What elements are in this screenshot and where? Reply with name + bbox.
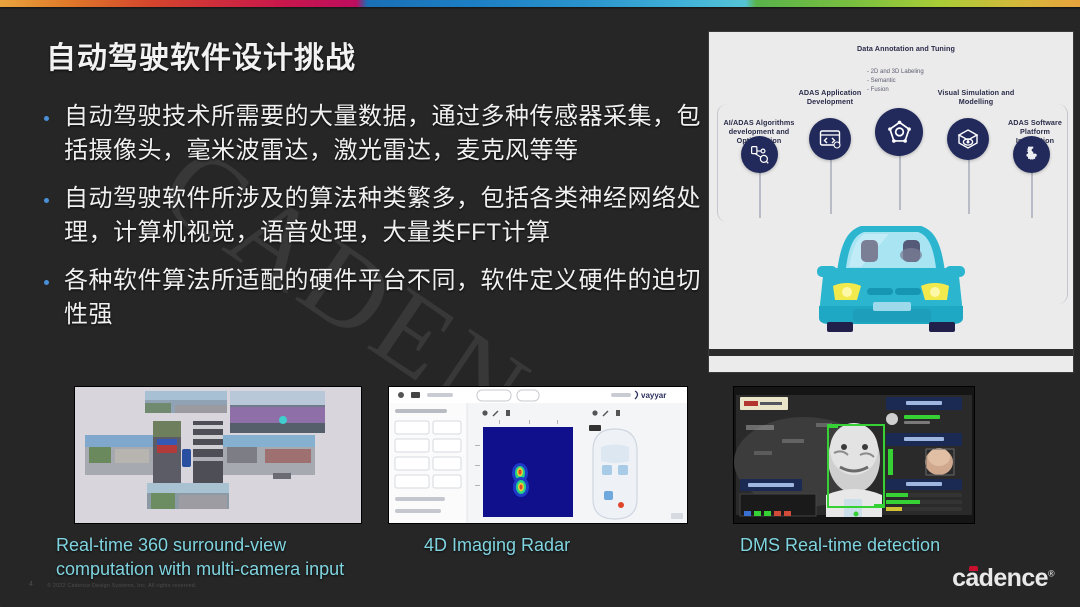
- slide-canvas: CADENCE 自动驾驶软件设计挑战 自动驾驶技术所需要的大量数据，通过多种传感…: [0, 0, 1080, 607]
- diagram-sub-item: - 2D and 3D Labeling: [867, 68, 967, 77]
- diagram-stem: [830, 156, 832, 214]
- brand-gradient-bar: [0, 0, 1080, 7]
- adas-workflow-diagram: Data Annotation and Tuning - 2D and 3D L…: [708, 31, 1074, 373]
- photo-4d-radar-ui: vayyar: [388, 386, 688, 524]
- cube-eye-icon: [956, 127, 980, 151]
- diagram-connector: [1017, 104, 1068, 304]
- list-item: 各种软件算法所适配的硬件平台不同，软件定义硬件的迫切性强: [44, 264, 709, 332]
- annotation-polygon-icon: [886, 119, 913, 146]
- cadence-logo: cadence®: [952, 564, 1054, 593]
- diagram-node-ai-algorithms[interactable]: [741, 136, 778, 173]
- copyright-text: © 2022 Cadence Design Systems, Inc. All …: [47, 583, 197, 589]
- diagram-stem: [968, 156, 970, 214]
- diagram-stem: [899, 148, 901, 210]
- diagram-node-visual-simulation[interactable]: [947, 118, 989, 160]
- bullet-list: 自动驾驶技术所需要的大量数据，通过多种传感器采集，包括摄像头，毫米波雷达，激光雷…: [44, 100, 709, 346]
- logo-trademark: ®: [1048, 569, 1054, 579]
- bullet-text: 自动驾驶技术所需要的大量数据，通过多种传感器采集，包括摄像头，毫米波雷达，激光雷…: [64, 100, 709, 168]
- brand-bar-shadow: [0, 7, 1080, 10]
- list-item: 自动驾驶技术所需要的大量数据，通过多种传感器采集，包括摄像头，毫米波雷达，激光雷…: [44, 100, 709, 168]
- page-title: 自动驾驶软件设计挑战: [46, 33, 356, 77]
- dms-detection-image: [734, 387, 974, 523]
- diagram-ground-line: [709, 349, 1073, 356]
- list-item: 自动驾驶软件所涉及的算法种类繁多，包括各类神经网络处理，计算机视觉，语音处理，大…: [44, 182, 709, 250]
- logo-text: cadence: [952, 564, 1048, 592]
- surround-view-composite-image: [75, 387, 361, 523]
- bullet-dot-icon: [44, 116, 49, 121]
- car-front-illustration: [791, 210, 991, 342]
- diagram-center-title: Data Annotation and Tuning: [851, 44, 961, 53]
- algorithm-nodes-icon: [749, 144, 770, 165]
- bullet-text: 自动驾驶软件所涉及的算法种类繁多，包括各类神经网络处理，计算机视觉，语音处理，大…: [64, 182, 709, 250]
- vayyar-radar-ui-image: vayyar: [389, 387, 687, 523]
- bullet-text: 各种软件算法所适配的硬件平台不同，软件定义硬件的迫切性强: [64, 264, 709, 332]
- diagram-node-adas-application[interactable]: [809, 118, 851, 160]
- page-number: 4: [29, 581, 33, 588]
- puzzle-integration-icon: [1021, 144, 1042, 165]
- caption-dms: DMS Real-time detection: [740, 533, 1020, 557]
- diagram-node-platform-integration[interactable]: [1013, 136, 1050, 173]
- bullet-dot-icon: [44, 280, 49, 285]
- code-window-icon: [818, 127, 842, 151]
- caption-surround-view: Real-time 360 surround-view computation …: [56, 533, 386, 582]
- diagram-sub-item: - Semantic: [867, 77, 967, 86]
- diagram-node-label-visual-simulation: Visual Simulation and Modelling: [935, 88, 1017, 106]
- caption-4d-radar: 4D Imaging Radar: [424, 533, 684, 557]
- photo-dms-detection: [733, 386, 975, 524]
- diagram-node-data-annotation[interactable]: [875, 108, 923, 156]
- bullet-dot-icon: [44, 198, 49, 203]
- photo-surround-view: [74, 386, 362, 524]
- svg-text:vayyar: vayyar: [641, 391, 666, 400]
- diagram-node-label-adas-application: ADAS Application Development: [787, 88, 873, 106]
- logo-accent-mark: [969, 566, 978, 571]
